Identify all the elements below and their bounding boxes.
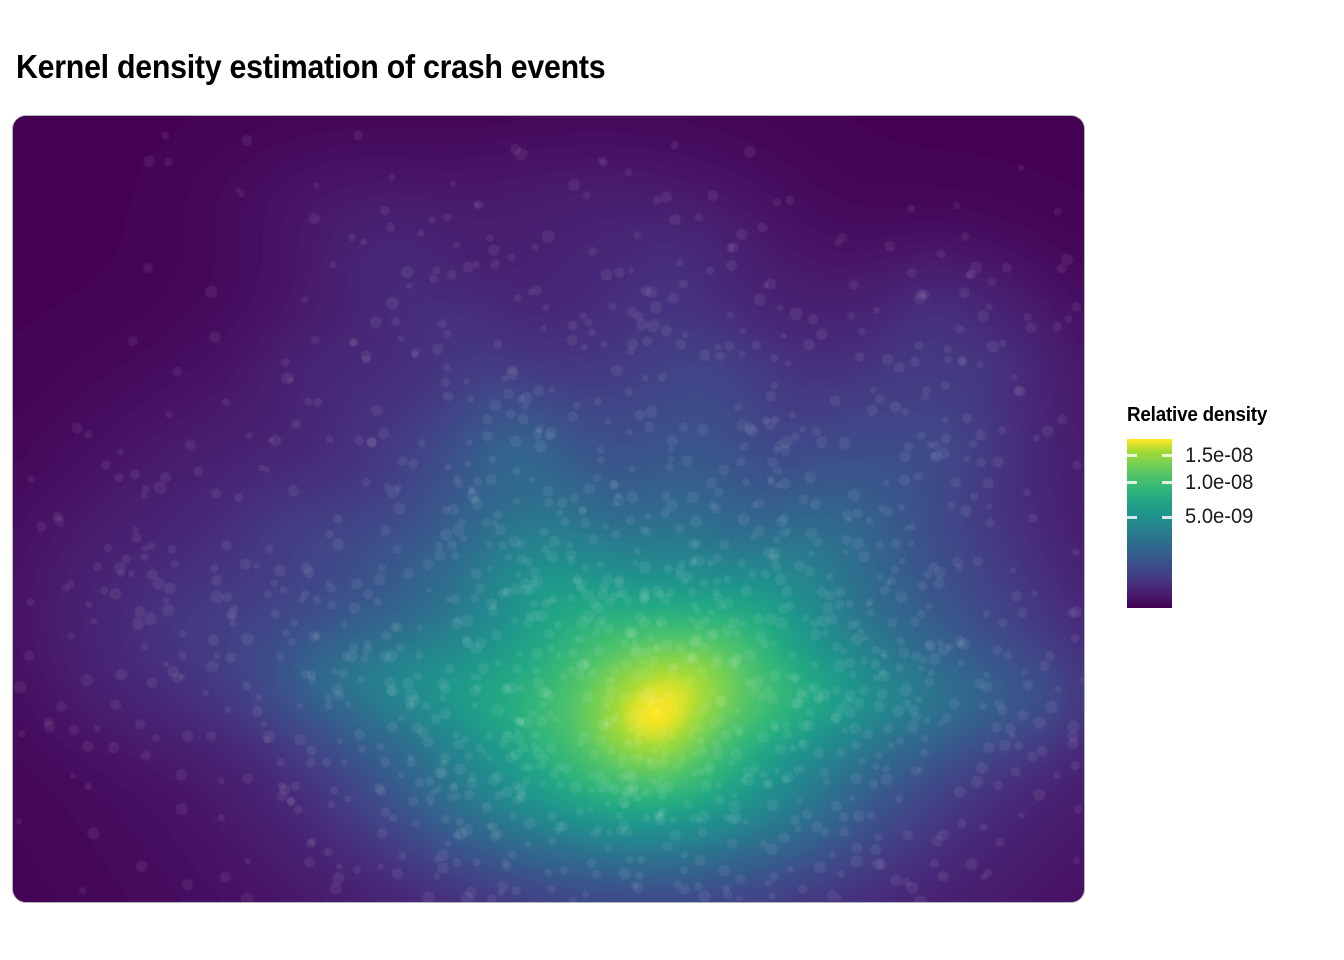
colorbar-tick-left bbox=[1127, 516, 1137, 519]
colorbar-gradient bbox=[1127, 439, 1172, 608]
colorbar-label: 1.5e-08 bbox=[1185, 444, 1253, 468]
colorbar[interactable] bbox=[1127, 439, 1172, 608]
colorbar-tick-right bbox=[1162, 454, 1172, 457]
kde-figure: Kernel density estimation of crash event… bbox=[0, 0, 1344, 960]
page-title: Kernel density estimation of crash event… bbox=[16, 48, 605, 86]
map-panel[interactable] bbox=[13, 116, 1084, 902]
kde-heatmap-canvas[interactable] bbox=[13, 116, 1084, 902]
legend-title: Relative density bbox=[1127, 404, 1324, 427]
colorbar-label: 5.0e-09 bbox=[1185, 505, 1253, 529]
colorbar-tick-left bbox=[1127, 454, 1137, 457]
legend-body: 1.5e-081.0e-085.0e-09 bbox=[1127, 439, 1337, 629]
legend: Relative density 1.5e-081.0e-085.0e-09 bbox=[1127, 404, 1337, 629]
colorbar-label: 1.0e-08 bbox=[1185, 471, 1253, 495]
colorbar-tick-right bbox=[1162, 516, 1172, 519]
colorbar-tick-left bbox=[1127, 481, 1137, 484]
colorbar-tick-right bbox=[1162, 481, 1172, 484]
